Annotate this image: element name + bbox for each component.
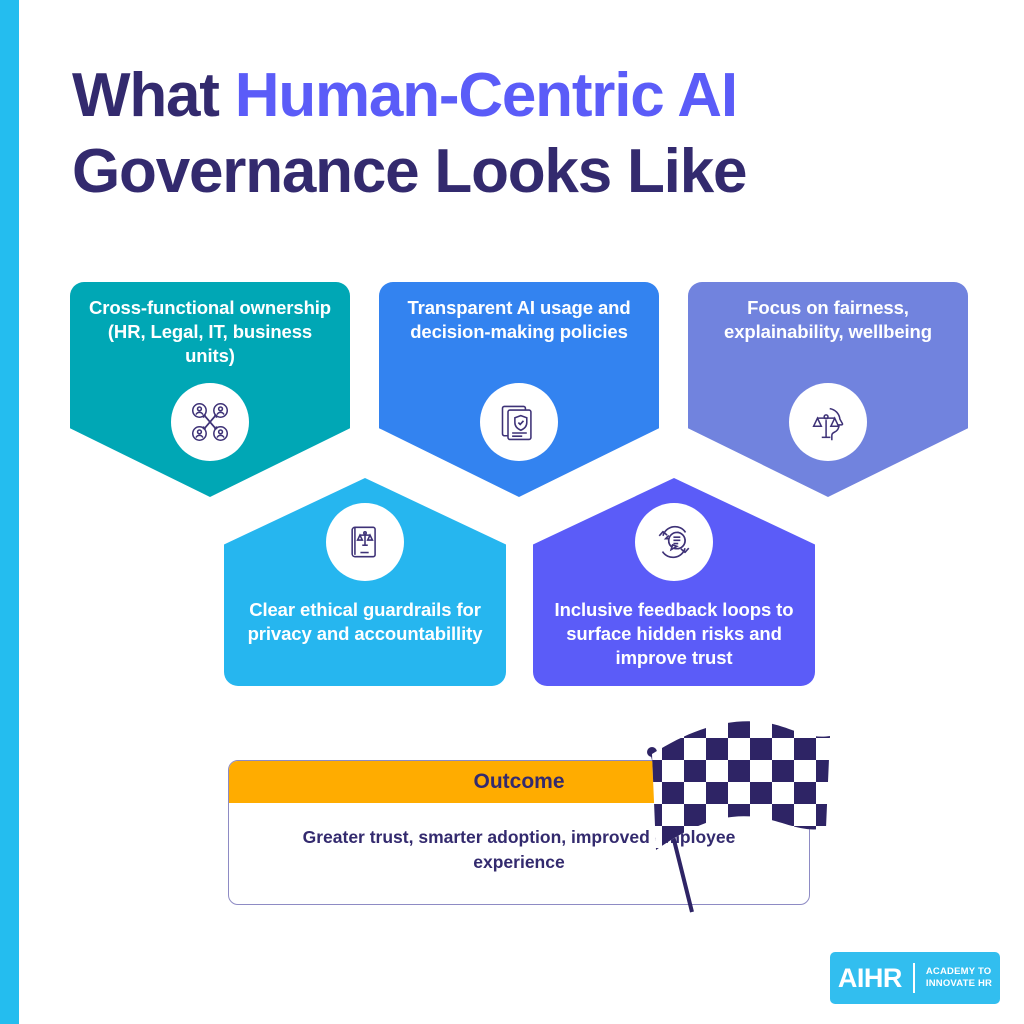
- outcome-header: Outcome: [229, 761, 809, 803]
- page-title-prefix: What: [72, 61, 235, 130]
- logo-tagline-line-1: ACADEMY TO: [926, 966, 992, 978]
- card-label: Transparent AI usage and decision-making…: [393, 296, 645, 344]
- document-shield-icon: [480, 383, 558, 461]
- logo-tagline-line-2: INNOVATE HR: [926, 978, 992, 990]
- card-label: Inclusive feedback loops to surface hidd…: [547, 598, 801, 670]
- card-label: Cross-functional ownership (HR, Legal, I…: [84, 296, 336, 368]
- outcome-header-label: Outcome: [473, 770, 564, 794]
- card-fairness-explainability-wellbeing[interactable]: Focus on fairness, explainability, wellb…: [688, 282, 968, 497]
- page-title: What Human-Centric AI Governance Looks L…: [72, 58, 932, 210]
- people-network-icon: [171, 383, 249, 461]
- logo-tagline: ACADEMY TO INNOVATE HR: [926, 966, 992, 990]
- outcome-body-text: Greater trust, smarter adoption, improve…: [229, 825, 809, 875]
- left-accent-bar: [0, 0, 19, 1024]
- card-inclusive-feedback-loops[interactable]: Inclusive feedback loops to surface hidd…: [533, 478, 815, 686]
- page-title-accent: Human-Centric AI: [235, 61, 737, 130]
- aihr-logo[interactable]: AIHR ACADEMY TO INNOVATE HR: [830, 952, 1000, 1004]
- law-book-scales-icon: [326, 503, 404, 581]
- card-label: Focus on fairness, explainability, wellb…: [702, 296, 954, 344]
- logo-divider: [913, 963, 915, 993]
- logo-wordmark: AIHR: [838, 965, 902, 992]
- outcome-box: Outcome Greater trust, smarter adoption,…: [228, 760, 810, 905]
- page-title-line-1: What Human-Centric AI: [72, 58, 932, 134]
- card-clear-ethical-guardrails[interactable]: Clear ethical guardrails for privacy and…: [224, 478, 506, 686]
- head-scales-icon: [789, 383, 867, 461]
- card-cross-functional-ownership[interactable]: Cross-functional ownership (HR, Legal, I…: [70, 282, 350, 497]
- card-transparent-ai-usage[interactable]: Transparent AI usage and decision-making…: [379, 282, 659, 497]
- card-label: Clear ethical guardrails for privacy and…: [238, 598, 492, 646]
- feedback-loop-icon: [635, 503, 713, 581]
- page-title-line-2: Governance Looks Like: [72, 134, 932, 210]
